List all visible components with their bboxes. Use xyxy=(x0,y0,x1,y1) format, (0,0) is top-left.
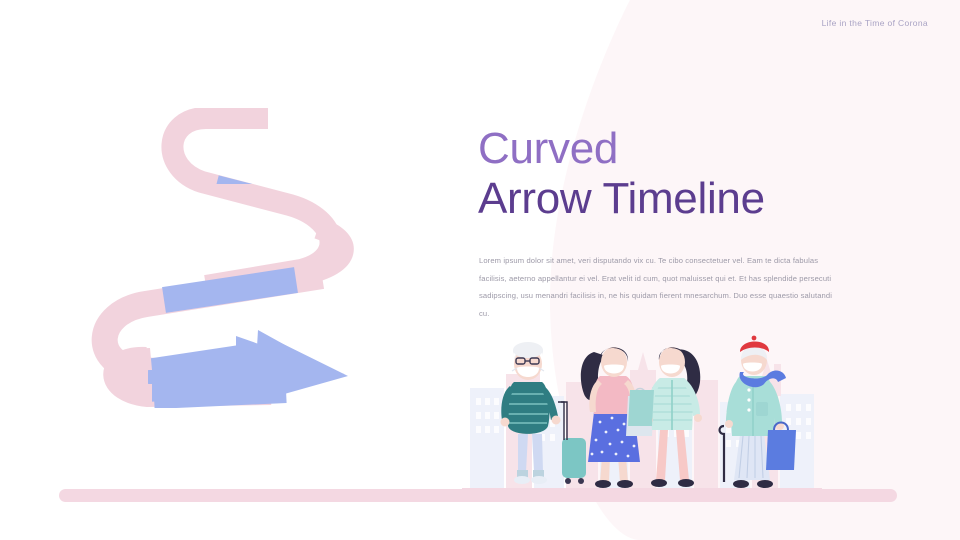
title-line-1: Curved xyxy=(478,124,898,174)
curved-arrow-graphic xyxy=(86,108,426,408)
title-line-2: Arrow Timeline xyxy=(478,174,898,224)
body-paragraph: Lorem ipsum dolor sit amet, veri disputa… xyxy=(479,252,841,322)
bottom-accent-bar xyxy=(59,489,897,502)
page-title: Curved Arrow Timeline xyxy=(478,124,898,224)
slide-canvas: Life in the Time of Corona xyxy=(0,0,960,540)
people-illustration xyxy=(462,330,822,502)
header-label: Life in the Time of Corona xyxy=(822,18,928,28)
